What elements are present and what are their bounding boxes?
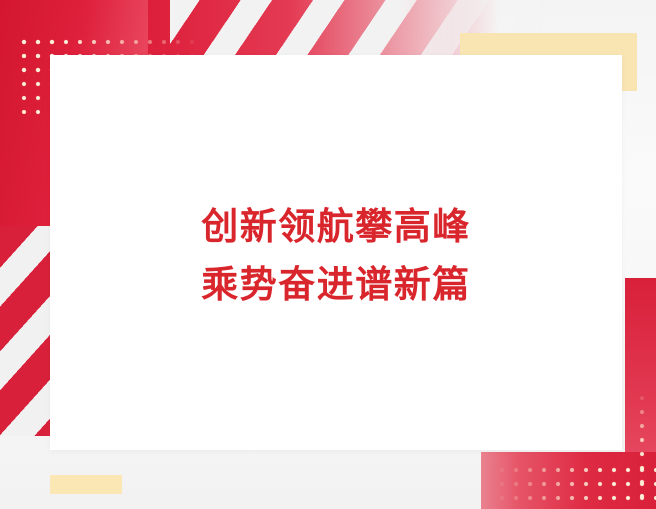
white-content-card: 创新领航攀高峰 乘势奋进谱新篇 (50, 55, 622, 450)
bottom-right-dot-grid-vertical-decoration (632, 388, 652, 504)
poster-canvas: 创新领航攀高峰 乘势奋进谱新篇 (0, 0, 656, 509)
title-block: 创新领航攀高峰 乘势奋进谱新篇 (50, 55, 622, 450)
gold-accent-bar-decoration (50, 475, 122, 494)
title-line-2: 乘势奋进谱新篇 (201, 256, 471, 313)
title-line-1: 创新领航攀高峰 (201, 198, 471, 255)
